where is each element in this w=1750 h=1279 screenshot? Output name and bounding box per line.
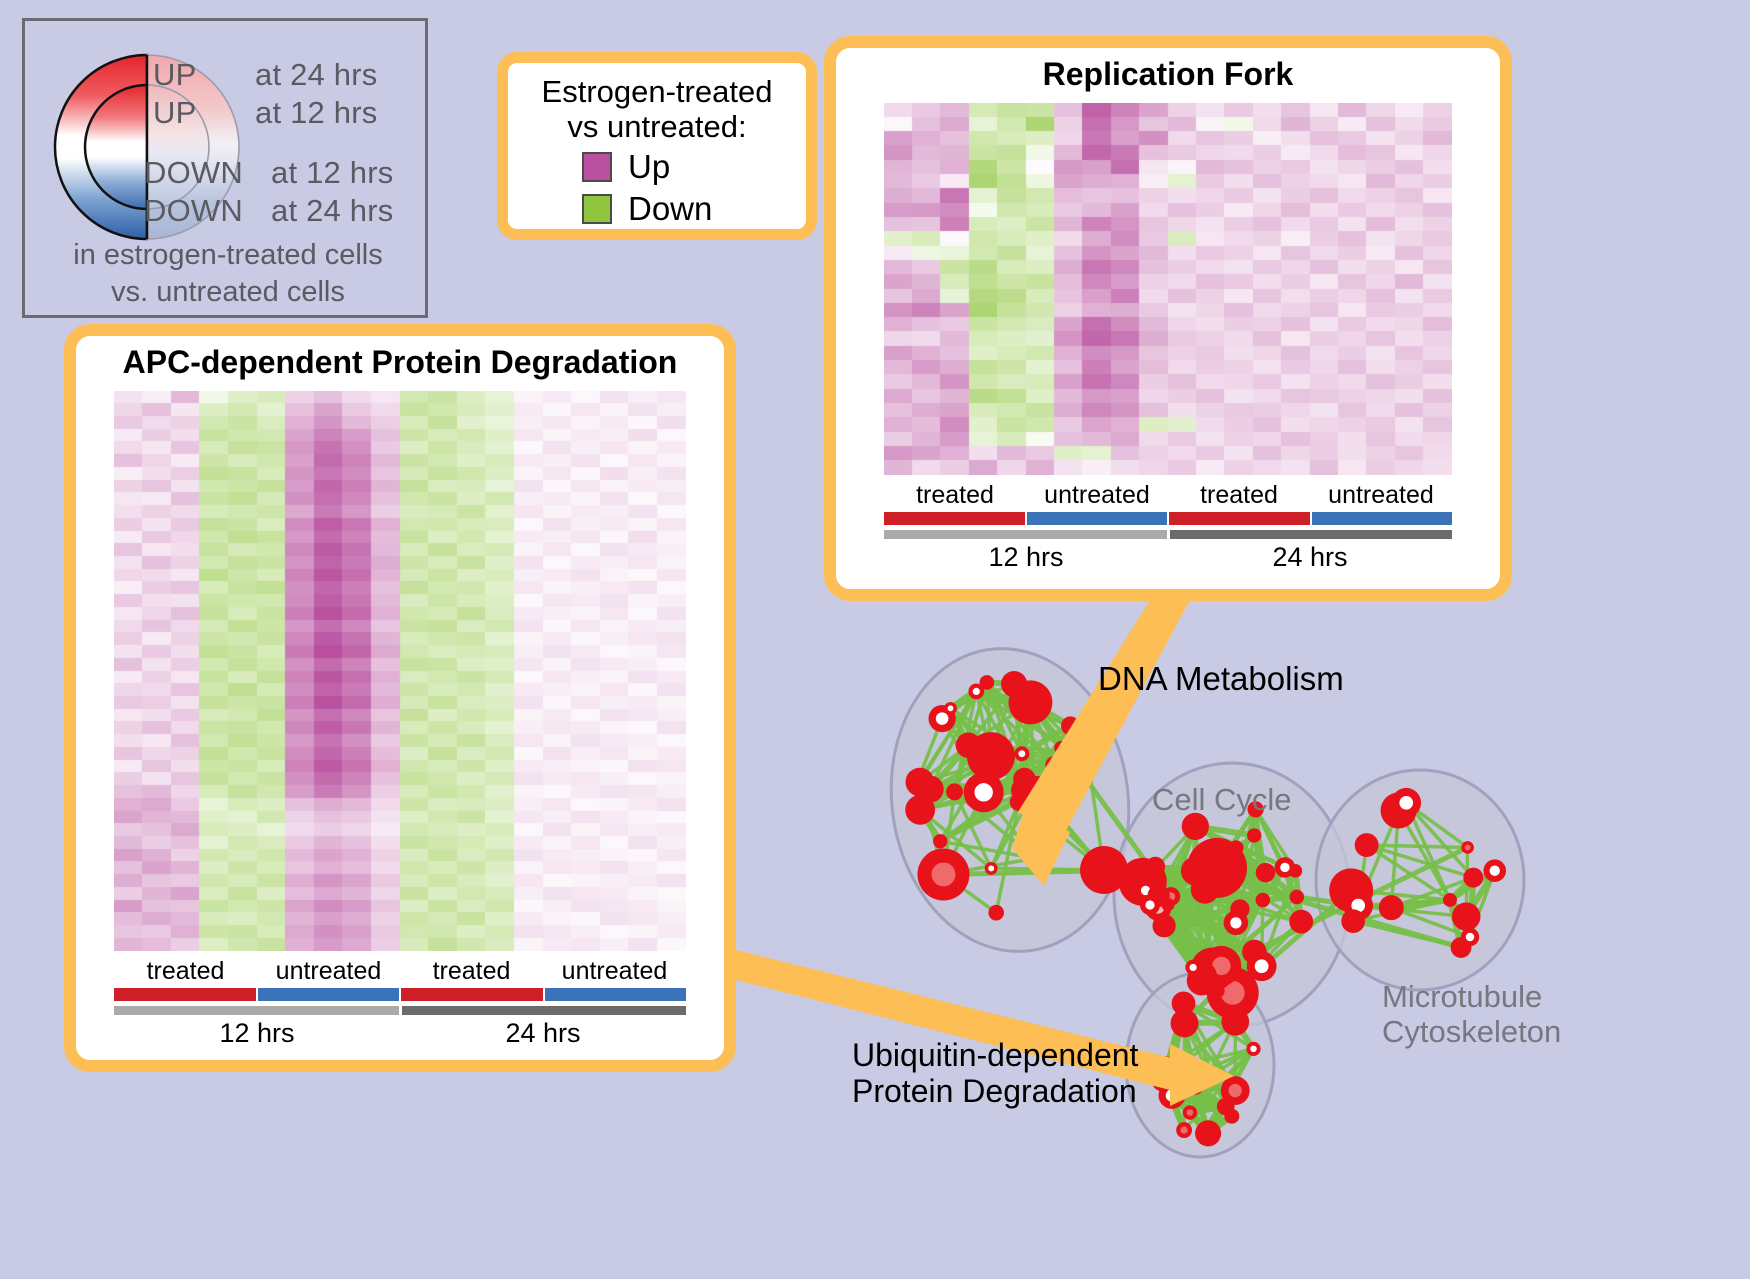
arrowhead-dna-metabolism [1012, 806, 1070, 886]
network-edge [1164, 926, 1203, 976]
network-edge [968, 745, 1034, 790]
network-edge [1184, 1003, 1236, 1021]
network-node[interactable] [1151, 1056, 1178, 1083]
network-node[interactable] [980, 675, 995, 690]
network-node[interactable] [1391, 788, 1421, 818]
network-edge [1466, 847, 1467, 916]
network-node[interactable] [1289, 910, 1313, 934]
network-edge [1037, 748, 1061, 788]
network-edge [1184, 1049, 1253, 1130]
network-edge [1391, 908, 1470, 937]
network-edge [951, 682, 987, 708]
network-edge [1193, 967, 1217, 991]
network-edge [1262, 900, 1263, 966]
network-edge [1265, 871, 1266, 873]
network-edge [1171, 897, 1213, 970]
network-edge [996, 802, 1019, 913]
group-color-bar [545, 988, 687, 1001]
network-edge [1155, 867, 1161, 925]
network-node[interactable] [1161, 887, 1180, 906]
network-node[interactable] [1187, 966, 1217, 996]
ring-legend-footer-line1: in estrogen-treated cells [25, 239, 431, 272]
network-edge [1159, 896, 1203, 976]
network-edge [984, 751, 1071, 792]
network-edge [1205, 890, 1213, 970]
network-edge [1203, 969, 1213, 975]
network-node[interactable] [1181, 856, 1210, 885]
network-node[interactable] [1185, 1076, 1203, 1094]
network-edge [940, 790, 1022, 841]
network-edge [1164, 890, 1205, 926]
network-node[interactable] [1461, 841, 1474, 854]
network-edge [955, 745, 969, 792]
network-edge [955, 779, 1025, 792]
network-edge [1351, 890, 1358, 905]
network-edge [1164, 900, 1263, 926]
network-edge [1450, 871, 1495, 900]
network-node[interactable] [1247, 951, 1277, 981]
network-edge [1195, 871, 1202, 976]
network-edge [915, 787, 983, 792]
network-node[interactable] [905, 795, 935, 825]
network-edge [1168, 900, 1263, 905]
network-node[interactable] [1289, 864, 1303, 878]
network-edge [1221, 952, 1254, 966]
network-edge [1195, 871, 1296, 897]
network-edge [1185, 1023, 1206, 1128]
network-node[interactable] [1054, 741, 1068, 755]
network-node[interactable] [1201, 946, 1241, 986]
network-edge [1030, 702, 1053, 764]
network-edge [1022, 702, 1030, 790]
network-edge [1193, 909, 1240, 967]
group-label: untreated [1026, 481, 1168, 510]
network-edge [1208, 1049, 1253, 1133]
network-node[interactable] [1343, 891, 1373, 921]
network-edge [1213, 871, 1265, 970]
network-edge [1203, 847, 1468, 976]
network-edge [951, 708, 991, 756]
network-edge [987, 682, 1023, 790]
network-node[interactable] [967, 732, 1015, 780]
network-edge [1195, 848, 1236, 871]
network-edge [930, 788, 1037, 789]
network-node[interactable] [1329, 868, 1373, 912]
network-edge [1165, 1003, 1184, 1069]
network-edge [930, 756, 991, 789]
network-edge [1030, 702, 1221, 965]
network-node[interactable] [1355, 833, 1379, 857]
network-node[interactable] [1171, 1009, 1199, 1037]
network-edge [1236, 871, 1265, 923]
network-edge [976, 691, 1030, 702]
network-node[interactable] [1221, 1008, 1249, 1036]
group-color-bars-apc-dependent [114, 988, 686, 1001]
updown-legend-box: Estrogen-treated vs untreated: Up Down [497, 52, 817, 240]
network-edge [968, 702, 1030, 745]
panel-title-apc-dependent: APC-dependent Protein Degradation [76, 344, 724, 381]
network-node[interactable] [1200, 1122, 1212, 1134]
network-edge [920, 792, 954, 810]
network-edge [940, 802, 1019, 841]
network-node[interactable] [1209, 983, 1224, 998]
network-node[interactable] [1074, 744, 1101, 771]
group-label: untreated [543, 957, 686, 986]
network-edge [991, 802, 1019, 868]
network-edge [984, 748, 1061, 793]
network-edge [1221, 900, 1262, 966]
network-edge [1217, 848, 1236, 868]
up-label: Up [628, 148, 732, 186]
network-edge [1034, 726, 1070, 790]
network-edge [1461, 937, 1470, 947]
network-edge [1168, 905, 1202, 981]
network-edge [951, 691, 977, 708]
network-edge [1265, 867, 1284, 872]
network-node[interactable] [928, 705, 955, 732]
network-edge [1217, 868, 1221, 966]
network-edge [1168, 897, 1171, 905]
group-color-bar [884, 512, 1027, 525]
network-node[interactable] [1191, 875, 1219, 903]
network-edge [1208, 1116, 1232, 1133]
network-node[interactable] [1224, 911, 1249, 936]
network-edge [1195, 867, 1284, 871]
network-edge [1171, 897, 1255, 952]
network-edge [1070, 751, 1087, 757]
network-edge [1150, 896, 1159, 905]
network-edge [1233, 952, 1255, 993]
network-node[interactable] [1246, 1042, 1260, 1056]
network-node[interactable] [1381, 793, 1417, 829]
network-edge [1022, 788, 1036, 790]
network-edge [1351, 890, 1353, 921]
network-node[interactable] [1242, 940, 1267, 965]
network-edge [1265, 873, 1301, 922]
arrowhead-ubiquitin [1170, 1044, 1234, 1106]
network-edge [1158, 871, 1195, 908]
network-node[interactable] [1151, 1068, 1175, 1092]
network-edge [1030, 702, 1034, 790]
network-node[interactable] [1025, 776, 1050, 801]
network-node[interactable] [1259, 864, 1272, 877]
network-edge [987, 682, 1054, 764]
network-edge [1205, 873, 1266, 890]
network-node[interactable] [1061, 716, 1080, 735]
network-edge [1195, 871, 1262, 900]
network-node[interactable] [1011, 779, 1034, 802]
network-edge [1233, 923, 1236, 993]
network-edge [1159, 896, 1168, 905]
network-node[interactable] [964, 772, 1004, 812]
network-edge [1172, 1086, 1195, 1096]
network-edge [1195, 826, 1236, 847]
network-edge [1022, 726, 1070, 754]
network-edge [1450, 900, 1466, 917]
network-edge [1150, 905, 1202, 981]
network-edge [1159, 896, 1162, 925]
network-edge [1185, 1023, 1209, 1133]
panel-apc-dependent: APC-dependent Protein Degradation treate… [64, 324, 736, 1072]
network-node[interactable] [1221, 1076, 1250, 1105]
group-label: treated [884, 481, 1026, 510]
network-edge [987, 682, 1061, 747]
network-node[interactable] [905, 768, 934, 797]
network-edge [1256, 809, 1296, 871]
network-edge [1235, 1022, 1253, 1049]
network-edge [1217, 809, 1256, 868]
network-edge [942, 682, 987, 718]
network-edge [1399, 811, 1450, 900]
network-edge [1168, 905, 1254, 952]
network-edge [1054, 748, 1061, 765]
network-node[interactable] [1230, 899, 1249, 918]
network-node[interactable] [1461, 928, 1479, 946]
network-node[interactable] [1176, 1122, 1192, 1138]
network-node[interactable] [1140, 895, 1160, 915]
network-edge [1037, 788, 1104, 870]
network-edge [1164, 926, 1201, 981]
network-edge [1195, 871, 1240, 909]
network-edge [1164, 871, 1265, 926]
network-node[interactable] [1341, 909, 1365, 933]
network-edge [915, 787, 920, 810]
network-node[interactable] [1463, 868, 1483, 888]
network-edge [1019, 788, 1037, 802]
network-edge [1217, 868, 1265, 871]
network-node[interactable] [1224, 1109, 1239, 1124]
network-node[interactable] [1217, 1098, 1235, 1116]
network-node[interactable] [1045, 756, 1062, 773]
network-edge [1165, 1070, 1184, 1131]
network-edge [920, 754, 1022, 782]
network-edge [943, 868, 1217, 875]
network-edge [1236, 848, 1265, 871]
network-node[interactable] [1187, 838, 1247, 898]
cluster-label-ubiquitin-protein-degradation: Ubiquitin-dependent Protein Degradation [852, 1038, 1138, 1110]
network-node[interactable] [985, 862, 998, 875]
network-edge [955, 792, 992, 869]
network-node[interactable] [1080, 846, 1128, 894]
network-edge [1164, 848, 1236, 926]
network-edge [1265, 873, 1296, 897]
network-node[interactable] [1152, 914, 1175, 937]
network-node[interactable] [1195, 1120, 1221, 1146]
network-edge [951, 684, 1015, 708]
network-edge [1146, 848, 1237, 891]
network-edge [984, 779, 1025, 792]
network-edge [1022, 751, 1070, 790]
network-node[interactable] [1020, 776, 1049, 805]
network-edge [991, 868, 1104, 870]
network-edge [1143, 882, 1202, 981]
network-node[interactable] [1229, 840, 1244, 855]
network-edge [1162, 900, 1263, 924]
network-edge [1205, 890, 1221, 966]
timepoint-color-bar [402, 1006, 687, 1015]
network-edge [1195, 871, 1265, 873]
network-node[interactable] [1443, 893, 1457, 907]
ring-label-time-3: at 24 hrs [271, 193, 393, 229]
network-edge [943, 792, 983, 874]
network-edge [1162, 925, 1262, 967]
network-edge [1034, 748, 1061, 790]
network-node[interactable] [1161, 1080, 1174, 1093]
network-edge [920, 792, 984, 810]
network-edge [1022, 726, 1070, 790]
down-label: Down [628, 190, 732, 228]
network-edge [951, 708, 1023, 790]
network-edge [955, 790, 1023, 792]
network-edge [1206, 1107, 1226, 1128]
network-edge [1358, 811, 1398, 906]
network-edge [1155, 867, 1240, 910]
timepoint-labels-replication-fork: 12 hrs24 hrs [884, 542, 1452, 573]
network-edge [920, 756, 991, 810]
up-color-swatch [582, 152, 612, 182]
network-edge [1193, 966, 1221, 968]
network-edge [1195, 1086, 1232, 1117]
network-node[interactable] [1451, 937, 1472, 958]
network-node[interactable] [1155, 918, 1169, 932]
network-edge [1233, 890, 1351, 993]
network-node[interactable] [968, 684, 984, 700]
network-edge [976, 691, 1054, 764]
network-node[interactable] [1010, 793, 1028, 811]
network-node[interactable] [1008, 680, 1052, 724]
network-node[interactable] [1452, 902, 1480, 930]
network-node[interactable] [909, 781, 922, 794]
network-node[interactable] [1207, 967, 1259, 1019]
network-node[interactable] [1026, 849, 1044, 867]
network-node[interactable] [988, 905, 1004, 921]
timepoint-color-bar [114, 1006, 402, 1015]
network-node[interactable] [1483, 859, 1506, 882]
network-edge [1195, 871, 1235, 923]
ring-label-dir-2: DOWN [144, 155, 243, 191]
network-edge [1195, 826, 1295, 870]
network-node[interactable] [933, 834, 947, 848]
network-node[interactable] [1183, 1105, 1197, 1119]
network-edge [1391, 900, 1450, 908]
network-node[interactable] [1275, 857, 1296, 878]
network-edge [1172, 1095, 1208, 1133]
network-edge [1159, 848, 1237, 896]
updown-legend-title-line1: Estrogen-treated [508, 75, 806, 110]
network-node[interactable] [917, 848, 969, 900]
network-edge [1146, 871, 1196, 890]
network-edge [1213, 966, 1262, 969]
group-color-bar [1312, 512, 1453, 525]
network-edge [1022, 702, 1031, 753]
network-edge [1256, 809, 1265, 871]
network-edge [1195, 871, 1212, 970]
network-edge [1213, 966, 1222, 970]
network-node[interactable] [917, 776, 944, 803]
network-edge [1195, 1049, 1254, 1086]
network-node[interactable] [1189, 962, 1217, 990]
network-edge [1143, 882, 1236, 923]
network-edge [1206, 1116, 1232, 1128]
network-node[interactable] [1135, 880, 1155, 900]
network-node[interactable] [956, 732, 982, 758]
network-node[interactable] [1256, 893, 1271, 908]
network-node[interactable] [944, 702, 957, 715]
network-node[interactable] [946, 783, 963, 800]
network-edge [984, 790, 1035, 792]
network-edge [1088, 757, 1104, 870]
network-edge [1367, 845, 1474, 878]
network-edge [1195, 871, 1461, 947]
network-edge [1159, 873, 1266, 896]
timepoint-color-bars-replication-fork [884, 530, 1452, 539]
network-node[interactable] [1146, 857, 1166, 877]
network-node[interactable] [1191, 947, 1235, 991]
network-edge [1164, 909, 1240, 926]
network-edge [1164, 897, 1171, 926]
network-edge [1450, 900, 1461, 947]
network-edge [1019, 726, 1070, 802]
network-edge [1391, 811, 1398, 908]
network-edge [1159, 896, 1171, 897]
network-edge [1163, 1080, 1206, 1128]
network-node[interactable] [1001, 671, 1027, 697]
network-node[interactable] [1289, 890, 1304, 905]
network-edge [1184, 1003, 1190, 1112]
network-edge [976, 691, 1070, 751]
network-edge [1024, 765, 1053, 779]
network-edge [1171, 897, 1193, 968]
network-edge [1297, 897, 1358, 906]
network-edge [1217, 835, 1254, 867]
network-node[interactable] [1014, 746, 1029, 761]
network-node[interactable] [1147, 885, 1169, 907]
network-edge [1203, 923, 1236, 976]
network-edge [1143, 826, 1196, 881]
network-node[interactable] [1057, 738, 1083, 764]
network-edge [951, 708, 1022, 753]
network-node[interactable] [1119, 858, 1167, 906]
network-node[interactable] [1013, 768, 1036, 791]
network-edge [991, 756, 1054, 765]
network-edge [942, 719, 1019, 802]
network-edge [1450, 878, 1473, 900]
network-edge [1143, 882, 1164, 926]
network-edge [1202, 923, 1236, 981]
network-node[interactable] [1172, 991, 1196, 1015]
network-edge [942, 719, 984, 793]
network-node[interactable] [1256, 863, 1276, 883]
network-edge [1263, 873, 1266, 900]
network-edge [1163, 1080, 1225, 1107]
network-edge [1195, 826, 1254, 835]
network-edge [1217, 966, 1262, 991]
network-edge [1037, 765, 1054, 788]
network-node[interactable] [1247, 828, 1261, 842]
network-node[interactable] [1185, 960, 1201, 976]
timepoint-color-bar [884, 530, 1170, 539]
network-edge [1236, 900, 1263, 923]
network-edge [1165, 1070, 1232, 1117]
network-node[interactable] [1145, 894, 1172, 921]
network-node[interactable] [1161, 898, 1174, 911]
network-edge [1256, 809, 1297, 897]
network-edge [1236, 848, 1263, 900]
network-edge [955, 682, 987, 791]
network-edge [1168, 1087, 1206, 1128]
network-node[interactable] [1159, 1082, 1186, 1109]
network-node[interactable] [1379, 895, 1404, 920]
